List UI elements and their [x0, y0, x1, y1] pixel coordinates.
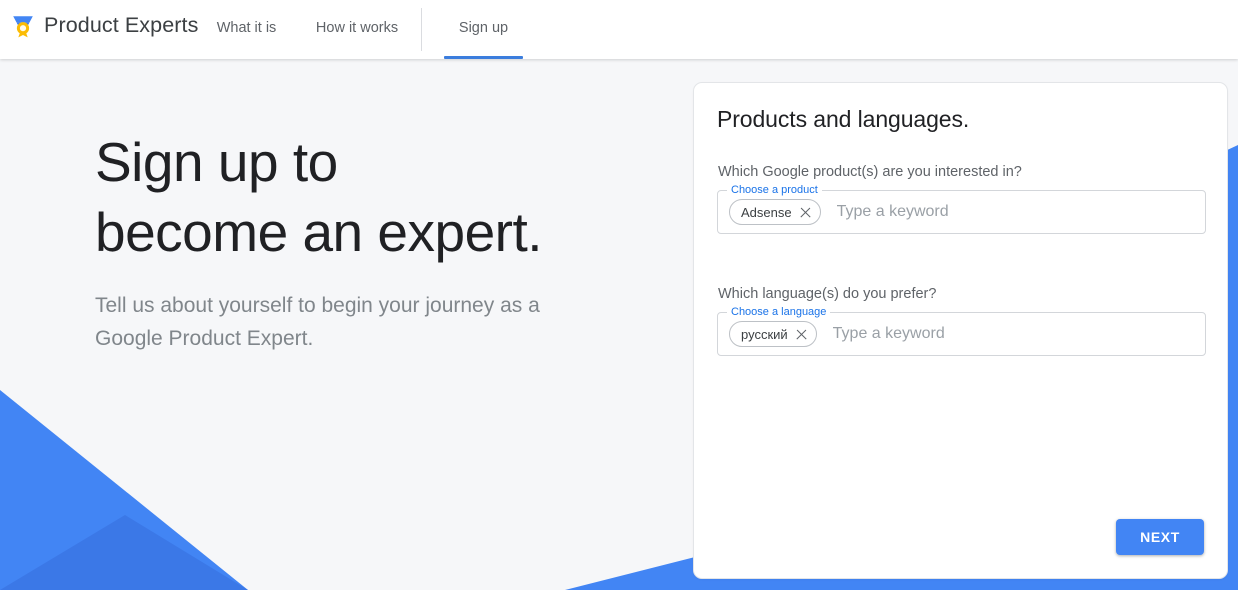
- chip-label: русский: [741, 327, 788, 342]
- chip-russian[interactable]: русский: [729, 321, 817, 347]
- nav-item-label: Sign up: [459, 20, 508, 36]
- languages-field-group: Which language(s) do you prefer? Choose …: [717, 286, 1206, 356]
- languages-question: Which language(s) do you prefer?: [718, 286, 1206, 302]
- chip-adsense[interactable]: Adsense: [729, 199, 821, 225]
- site-header: Product Experts What it is How it works …: [0, 0, 1238, 59]
- nav-item-how-it-works[interactable]: How it works: [293, 0, 421, 59]
- hero-subtitle: Tell us about yourself to begin your jou…: [95, 289, 600, 355]
- languages-chip-input[interactable]: Choose a language русский: [717, 312, 1206, 356]
- signup-form-card: Products and languages. Which Google pro…: [693, 82, 1228, 579]
- next-button[interactable]: NEXT: [1116, 519, 1204, 555]
- products-chip-input[interactable]: Choose a product Adsense: [717, 190, 1206, 234]
- languages-keyword-input[interactable]: [831, 322, 1194, 346]
- nav-item-label: How it works: [316, 20, 398, 36]
- card-title: Products and languages.: [717, 106, 969, 133]
- signup-page: Product Experts What it is How it works …: [0, 0, 1238, 590]
- brand[interactable]: Product Experts: [10, 9, 198, 41]
- nav-divider: [421, 8, 422, 51]
- main-nav: What it is How it works Sign up: [200, 0, 523, 59]
- close-x-icon[interactable]: [795, 328, 808, 341]
- product-experts-badge-icon: [10, 12, 36, 38]
- nav-item-label: What it is: [217, 20, 277, 36]
- products-question: Which Google product(s) are you interest…: [718, 164, 1206, 180]
- products-legend: Choose a product: [727, 184, 822, 196]
- nav-item-sign-up[interactable]: Sign up: [444, 0, 523, 59]
- hero-section: Sign up to become an expert. Tell us abo…: [95, 127, 655, 355]
- products-keyword-input[interactable]: [835, 200, 1194, 224]
- products-field-group: Which Google product(s) are you interest…: [717, 164, 1206, 234]
- brand-name: Product Experts: [44, 13, 198, 38]
- close-x-icon[interactable]: [799, 206, 812, 219]
- page-title: Sign up to become an expert.: [95, 127, 655, 267]
- languages-legend: Choose a language: [727, 306, 830, 318]
- chip-label: Adsense: [741, 205, 792, 220]
- nav-item-what-it-is[interactable]: What it is: [200, 0, 293, 59]
